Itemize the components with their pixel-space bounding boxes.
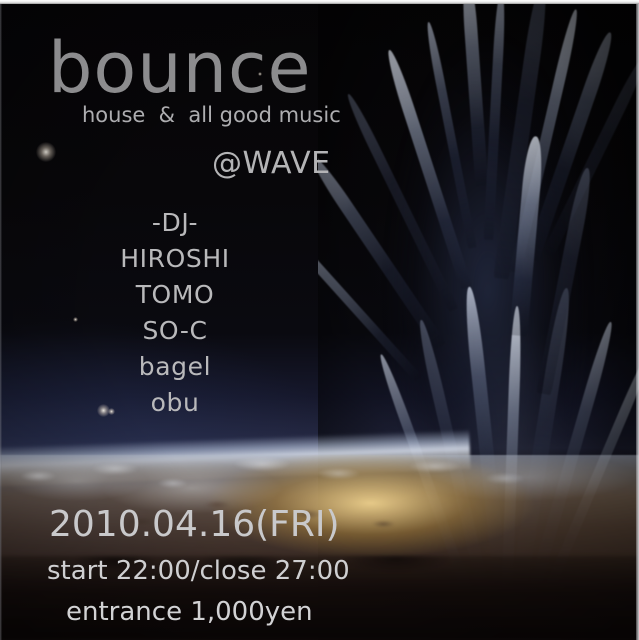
dj-lineup: -DJ- HIROSHI TOMO SO-C bagel obu xyxy=(60,205,290,421)
event-price: entrance 1,000yen xyxy=(66,595,313,629)
event-flyer: bounce house & all good music @WAVE -DJ-… xyxy=(0,0,639,640)
event-date: 2010.04.16(FRI) xyxy=(49,503,340,547)
flyer-text-content: bounce house & all good music @WAVE -DJ-… xyxy=(0,0,639,640)
event-title: bounce xyxy=(48,29,312,107)
venue-name: @WAVE xyxy=(212,145,331,183)
lineup-item: TOMO xyxy=(60,277,290,313)
lineup-item: obu xyxy=(60,385,290,421)
lineup-item: SO-C xyxy=(60,313,290,349)
event-subtitle: house & all good music xyxy=(82,102,341,128)
lineup-item: bagel xyxy=(60,349,290,385)
lineup-item: HIROSHI xyxy=(60,241,290,277)
lineup-item: -DJ- xyxy=(60,205,290,241)
event-hours: start 22:00/close 27:00 xyxy=(47,554,350,588)
